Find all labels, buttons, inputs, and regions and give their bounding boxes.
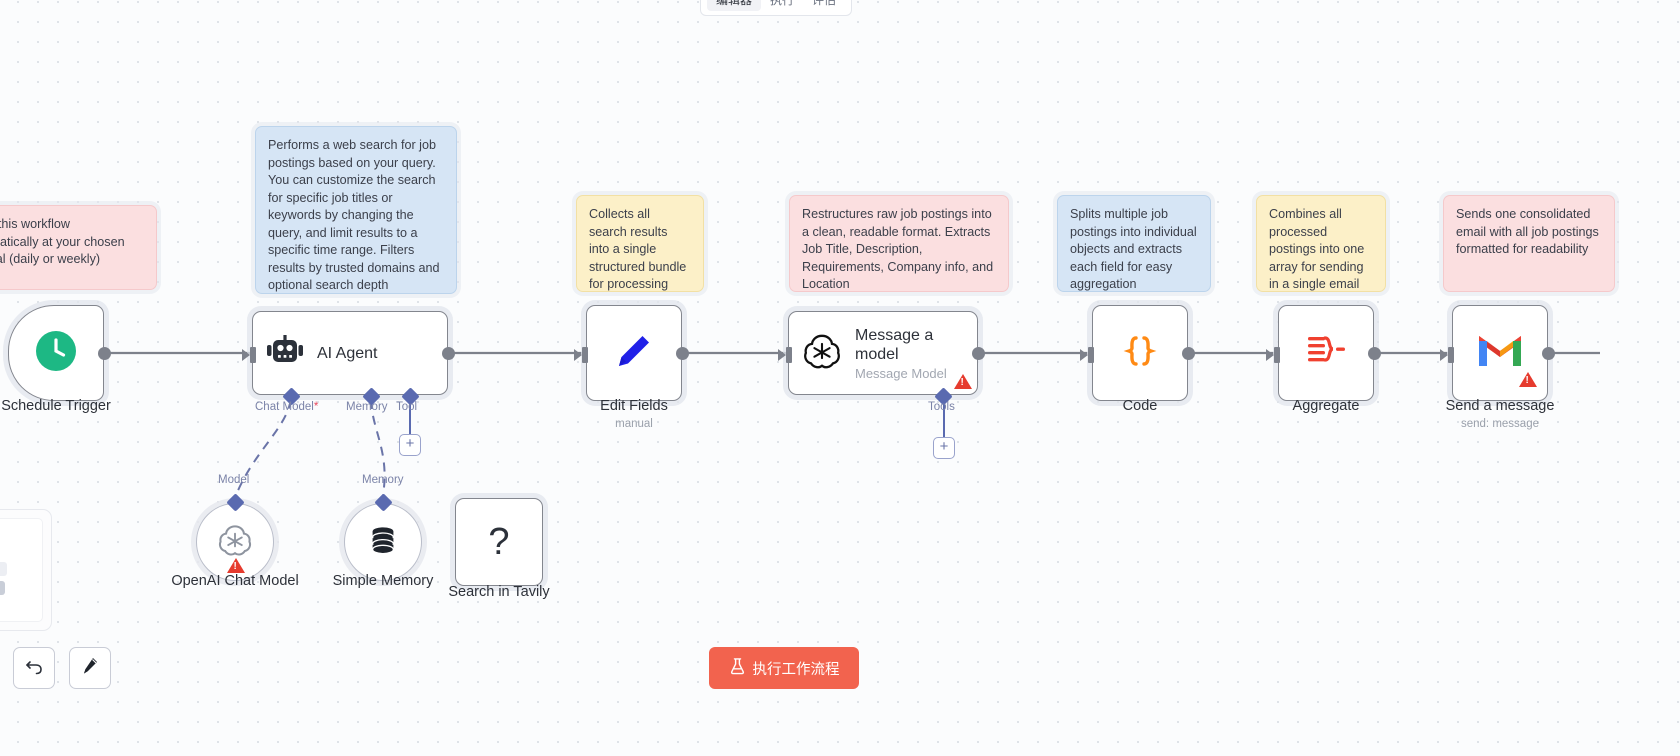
sticky-note-gmail[interactable]: Sends one consolidated email with all jo… bbox=[1443, 195, 1615, 292]
openai-icon bbox=[218, 523, 252, 562]
undo-button[interactable] bbox=[13, 647, 55, 689]
simple-memory-caption: Simple Memory bbox=[333, 573, 434, 589]
ai-agent-output-dot[interactable] bbox=[442, 347, 455, 360]
node-code[interactable]: Code bbox=[1092, 305, 1188, 401]
send-message-subcaption: send: message bbox=[1461, 418, 1539, 430]
gmail-icon bbox=[1477, 333, 1523, 374]
undo-icon bbox=[24, 656, 44, 681]
message-model-tools-label: Tools bbox=[928, 401, 955, 413]
tidy-up-button[interactable] bbox=[69, 647, 111, 689]
robot-icon bbox=[267, 335, 303, 372]
code-body[interactable] bbox=[1092, 305, 1188, 401]
ai-agent-chat-model-label: Chat Model* bbox=[255, 401, 318, 413]
message-model-text-block: Message a model Message Model bbox=[855, 326, 963, 381]
code-input[interactable] bbox=[1080, 347, 1094, 363]
message-model-body[interactable]: Message a model Message Model bbox=[788, 311, 978, 395]
tab-evaluations[interactable]: 评估 bbox=[803, 0, 845, 11]
message-model-warning-icon[interactable] bbox=[954, 374, 972, 389]
edit-fields-subcaption: manual bbox=[615, 418, 653, 430]
database-icon bbox=[366, 523, 400, 562]
node-aggregate[interactable]: Aggregate bbox=[1278, 305, 1374, 401]
question-mark-icon: ? bbox=[488, 522, 509, 562]
node-simple-memory[interactable]: Simple Memory bbox=[344, 503, 422, 581]
message-model-output-dot[interactable] bbox=[972, 347, 985, 360]
execute-workflow-label: 执行工作流程 bbox=[753, 658, 840, 679]
node-message-a-model[interactable]: Message a model Message Model Tools + bbox=[788, 311, 978, 395]
sticky-note-schedule[interactable]: Runs this workflow automatically at your… bbox=[0, 205, 157, 290]
send-message-caption: Send a message bbox=[1446, 398, 1555, 414]
edit-fields-output-dot[interactable] bbox=[676, 347, 689, 360]
flask-icon bbox=[729, 657, 746, 679]
openai-icon bbox=[803, 332, 841, 375]
message-model-title: Message a model bbox=[855, 326, 963, 364]
search-in-tavily-caption: Search in Tavily bbox=[448, 584, 549, 600]
message-model-add-tool-button[interactable]: + bbox=[933, 437, 955, 459]
aggregate-output-dot[interactable] bbox=[1368, 347, 1381, 360]
model-endpoint-label: Model bbox=[218, 474, 249, 486]
send-message-warning-icon[interactable] bbox=[1519, 372, 1537, 387]
ai-agent-title: AI Agent bbox=[317, 344, 378, 363]
workflow-canvas[interactable]: 编辑器 执行 评估 Runs this workflow automatical… bbox=[0, 0, 1680, 756]
ai-agent-memory-label: Memory bbox=[346, 401, 388, 413]
sticky-note-aggregate[interactable]: Combines all processed postings into one… bbox=[1256, 195, 1386, 292]
code-output-dot[interactable] bbox=[1182, 347, 1195, 360]
edit-fields-body[interactable] bbox=[586, 305, 682, 401]
curly-braces-icon bbox=[1118, 329, 1162, 378]
tab-editor[interactable]: 编辑器 bbox=[707, 0, 761, 11]
openai-chat-model-caption: OpenAI Chat Model bbox=[171, 573, 298, 589]
node-schedule-trigger[interactable]: Schedule Trigger bbox=[8, 305, 104, 401]
node-ai-agent[interactable]: AI Agent Chat Model* Memory Tool + bbox=[252, 311, 448, 395]
tab-executions[interactable]: 执行 bbox=[761, 0, 803, 11]
simple-memory-body[interactable] bbox=[344, 503, 422, 581]
send-message-input[interactable] bbox=[1440, 347, 1454, 363]
edit-fields-caption: Edit Fields bbox=[600, 398, 668, 414]
clock-icon bbox=[34, 329, 78, 378]
ai-agent-body[interactable]: AI Agent bbox=[252, 311, 448, 395]
node-send-a-message[interactable]: Send a message send: message bbox=[1452, 305, 1548, 401]
memory-endpoint-label: Memory bbox=[362, 474, 404, 486]
edit-fields-input[interactable] bbox=[574, 347, 588, 363]
schedule-trigger-caption: Schedule Trigger bbox=[1, 398, 111, 414]
pencil-icon bbox=[613, 330, 655, 377]
aggregate-caption: Aggregate bbox=[1293, 398, 1360, 414]
ai-agent-input[interactable] bbox=[242, 347, 256, 363]
schedule-trigger-output-dot[interactable] bbox=[98, 347, 111, 360]
sticky-note-agent[interactable]: Performs a web search for job postings b… bbox=[255, 126, 457, 294]
floating-side-panel[interactable] bbox=[0, 509, 52, 631]
node-edit-fields[interactable]: Edit Fields manual bbox=[586, 305, 682, 401]
aggregate-body[interactable] bbox=[1278, 305, 1374, 401]
aggregate-input[interactable] bbox=[1266, 347, 1280, 363]
code-caption: Code bbox=[1123, 398, 1158, 414]
sticky-note-edit-fields[interactable]: Collects all search results into a singl… bbox=[576, 195, 704, 292]
message-model-subtitle: Message Model bbox=[855, 366, 963, 381]
send-message-output-dot[interactable] bbox=[1542, 347, 1555, 360]
send-message-body[interactable] bbox=[1452, 305, 1548, 401]
sticky-note-code[interactable]: Splits multiple job postings into indivi… bbox=[1057, 195, 1211, 292]
node-openai-chat-model[interactable]: OpenAI Chat Model bbox=[196, 503, 274, 581]
node-search-in-tavily[interactable]: ? Search in Tavily bbox=[455, 498, 543, 586]
message-model-input[interactable] bbox=[778, 347, 792, 363]
openai-chat-model-warning-icon[interactable] bbox=[227, 558, 245, 573]
ai-agent-add-tool-button[interactable]: + bbox=[399, 434, 421, 456]
openai-chat-model-body[interactable] bbox=[196, 503, 274, 581]
editor-tab-bar[interactable]: 编辑器 执行 评估 bbox=[700, 0, 852, 16]
search-in-tavily-body[interactable]: ? bbox=[455, 498, 543, 586]
aggregate-icon bbox=[1304, 331, 1348, 376]
panel-placeholder-4 bbox=[0, 581, 5, 595]
tidy-up-icon bbox=[80, 656, 100, 681]
execute-workflow-button[interactable]: 执行工作流程 bbox=[709, 647, 859, 689]
ai-agent-tool-label: Tool bbox=[396, 401, 417, 413]
sticky-note-message-model[interactable]: Restructures raw job postings into a cle… bbox=[789, 195, 1009, 292]
schedule-trigger-body[interactable] bbox=[8, 305, 104, 401]
panel-placeholder-2 bbox=[0, 562, 7, 576]
